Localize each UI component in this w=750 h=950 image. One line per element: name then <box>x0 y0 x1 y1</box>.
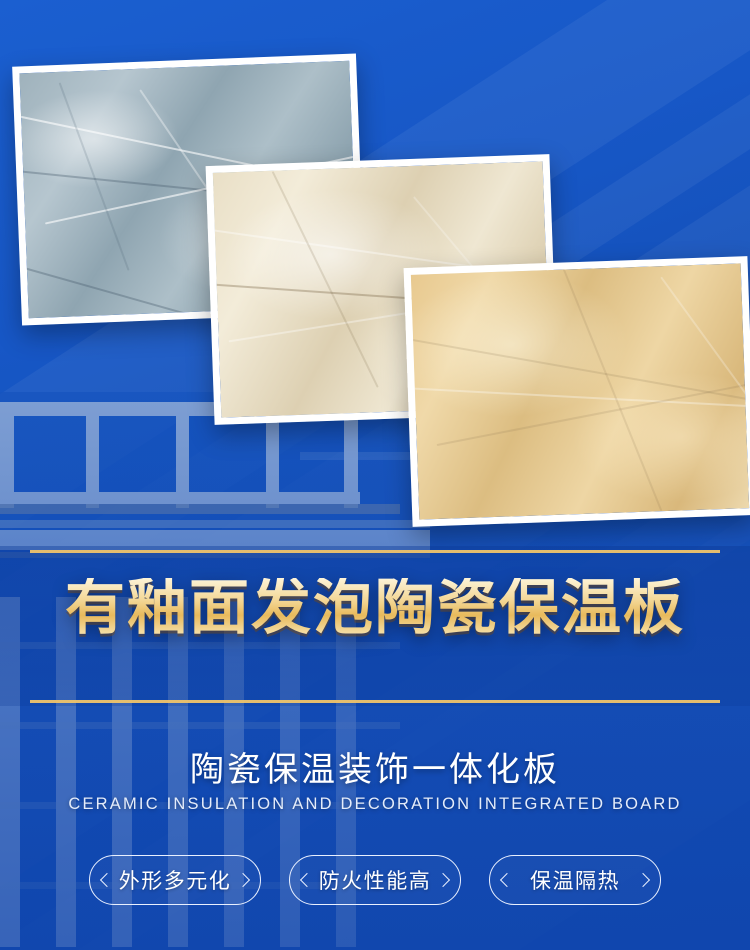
subtitle-en: CERAMIC INSULATION AND DECORATION INTEGR… <box>0 795 750 814</box>
product-poster: 有釉面发泡陶瓷保温板 陶瓷保温装饰一体化板 CERAMIC INSULATION… <box>0 0 750 950</box>
feature-pill-fireproof: 防火性能高 <box>289 855 461 905</box>
feature-pill-insulation: 保温隔热 <box>489 855 661 905</box>
headline-rule-bottom <box>30 700 720 703</box>
feature-pill-shape: 外形多元化 <box>89 855 261 905</box>
page-title: 有釉面发泡陶瓷保温板 <box>0 578 750 638</box>
feature-pill-list: 外形多元化 防火性能高 保温隔热 <box>0 855 750 905</box>
tile-sample-sand <box>404 256 750 527</box>
headline-rule-top <box>30 550 720 553</box>
subtitle-cn: 陶瓷保温装饰一体化板 <box>0 742 750 791</box>
